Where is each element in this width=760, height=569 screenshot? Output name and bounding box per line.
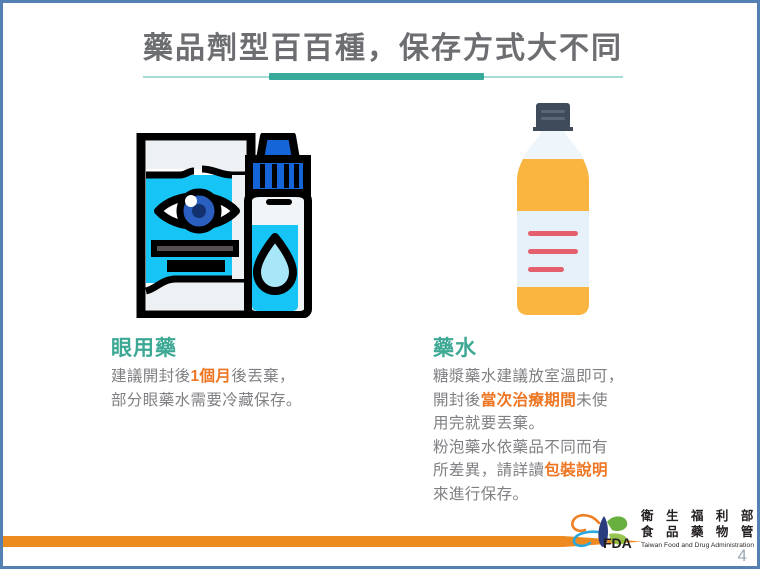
logo-acronym: FDA (603, 535, 632, 550)
divider-accent-bar (269, 73, 484, 80)
logo-org-text: 衛 生 福 利 部 食 品 藥 物 管 理 署 Taiwan Food and … (641, 509, 751, 549)
fda-butterfly-logo: FDA (569, 510, 641, 550)
body-line: 建議開封後1個月後丟棄， (111, 365, 411, 389)
highlight-term: 1個月 (191, 368, 232, 385)
org-name-english: Taiwan Food and Drug Administration (641, 542, 751, 550)
medicine-bottle-icon (503, 101, 603, 321)
body-line: 來進行保存。 (433, 483, 688, 507)
body-line: 粉泡藥水依藥品不同而有 (433, 436, 688, 460)
section-heading: 藥水 (433, 336, 688, 362)
page-title: 藥品劑型百百種，保存方式大不同 (3, 23, 760, 67)
footer-logo: FDA 衛 生 福 利 部 食 品 藥 物 管 理 署 Taiwan Food … (569, 508, 749, 553)
org-name-line1: 衛 生 福 利 部 (641, 509, 751, 525)
org-name-line2: 食 品 藥 物 管 理 署 (641, 525, 751, 541)
section-liquid-medicine: 藥水 糖漿藥水建議放室溫即可， 開封後當次治療期間未使 用完就要丟棄。 粉泡藥水… (433, 336, 688, 507)
section-body: 糖漿藥水建議放室溫即可， 開封後當次治療期間未使 用完就要丟棄。 粉泡藥水依藥品… (433, 365, 688, 506)
section-eye-medicine: 眼用藥 建議開封後1個月後丟棄， 部分眼藥水需要冷藏保存。 (111, 336, 411, 412)
body-line: 用完就要丟棄。 (433, 412, 688, 436)
body-line: 開封後當次治療期間未使 (433, 389, 688, 413)
highlight-term: 包裝說明 (544, 462, 608, 479)
slide-canvas: 藥品劑型百百種，保存方式大不同 (0, 0, 760, 569)
section-body: 建議開封後1個月後丟棄， 部分眼藥水需要冷藏保存。 (111, 365, 411, 412)
section-heading: 眼用藥 (111, 336, 411, 362)
body-line: 糖漿藥水建議放室溫即可， (433, 365, 688, 389)
page-number: 4 (738, 546, 747, 566)
footer-accent-bar (3, 534, 643, 545)
title-divider (143, 73, 623, 81)
body-line: 所差異，請詳讀包裝說明 (433, 459, 688, 483)
highlight-term: 當次治療期間 (481, 392, 576, 409)
eye-drop-box-icon (136, 133, 336, 318)
body-line: 部分眼藥水需要冷藏保存。 (111, 389, 411, 413)
